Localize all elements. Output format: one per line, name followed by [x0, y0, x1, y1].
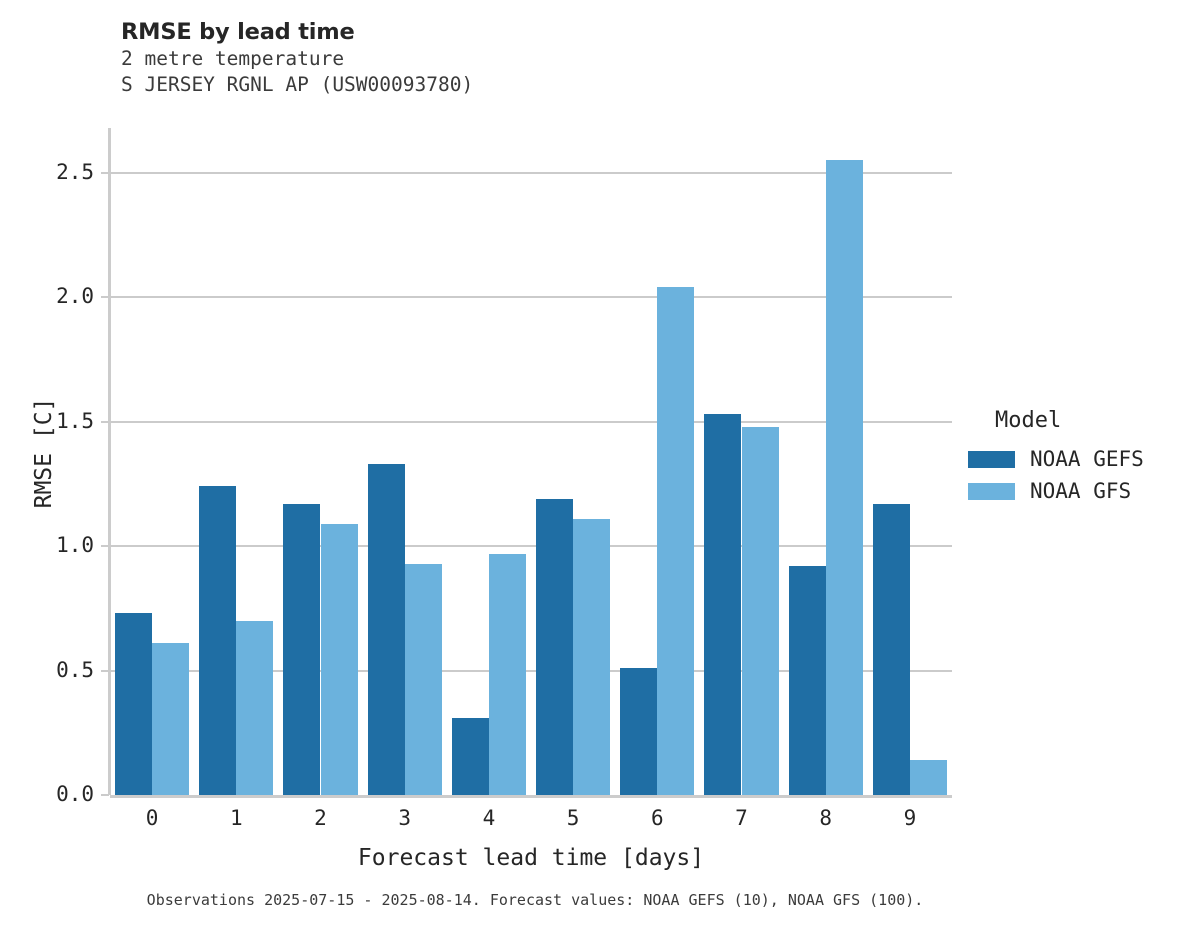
- y-tick-label: 1.0: [8, 535, 94, 556]
- y-axis-label: RMSE [C]: [31, 373, 57, 533]
- x-tick-label-7: 7: [712, 806, 772, 830]
- bar-noaa-gefs-day-5[interactable]: [536, 499, 573, 795]
- bar-noaa-gefs-day-8[interactable]: [789, 566, 826, 795]
- y-tick-mark: [101, 296, 109, 298]
- bar-noaa-gfs-day-1[interactable]: [236, 621, 273, 795]
- x-tick-label-6: 6: [627, 806, 687, 830]
- bar-noaa-gefs-day-0[interactable]: [115, 613, 152, 795]
- x-tick-label-3: 3: [375, 806, 435, 830]
- bar-noaa-gefs-day-9[interactable]: [873, 504, 910, 795]
- y-tick-mark: [101, 545, 109, 547]
- y-tick-label: 0.0: [8, 784, 94, 805]
- x-tick-label-2: 2: [291, 806, 351, 830]
- bar-noaa-gfs-day-4[interactable]: [489, 554, 526, 795]
- bar-noaa-gfs-day-5[interactable]: [573, 519, 610, 795]
- y-tick-mark: [101, 172, 109, 174]
- y-tick-label: 2.5: [8, 162, 94, 183]
- bar-noaa-gfs-day-6[interactable]: [657, 287, 694, 795]
- x-tick-label-8: 8: [796, 806, 856, 830]
- bar-noaa-gfs-day-8[interactable]: [826, 160, 863, 795]
- legend-swatch-noaa-gefs: [968, 451, 1015, 468]
- plot-area: [110, 128, 952, 795]
- legend-swatch-noaa-gfs: [968, 483, 1015, 500]
- x-tick-label-0: 0: [122, 806, 182, 830]
- legend-title: Model: [995, 408, 1183, 434]
- x-tick-label-4: 4: [459, 806, 519, 830]
- bar-noaa-gefs-day-6[interactable]: [620, 668, 657, 795]
- bar-noaa-gfs-day-3[interactable]: [405, 564, 442, 795]
- bar-noaa-gefs-day-3[interactable]: [368, 464, 405, 795]
- y-tick-mark: [101, 794, 109, 796]
- legend-label-noaa-gefs: NOAA GEFS: [1030, 449, 1144, 470]
- legend-label-noaa-gfs: NOAA GFS: [1030, 481, 1131, 502]
- x-axis-spine: [110, 795, 952, 798]
- y-tick-label: 2.0: [8, 286, 94, 307]
- x-tick-label-9: 9: [880, 806, 940, 830]
- y-tick-label: 0.5: [8, 660, 94, 681]
- y-tick-mark: [101, 670, 109, 672]
- y-tick-mark: [101, 421, 109, 423]
- bar-noaa-gfs-day-7[interactable]: [742, 427, 779, 795]
- x-tick-label-5: 5: [543, 806, 603, 830]
- bar-noaa-gefs-day-1[interactable]: [199, 486, 236, 795]
- bar-noaa-gefs-day-7[interactable]: [704, 414, 741, 795]
- x-tick-label-1: 1: [206, 806, 266, 830]
- bar-noaa-gefs-day-4[interactable]: [452, 718, 489, 795]
- legend-item-noaa-gfs[interactable]: NOAA GFS: [968, 475, 1183, 507]
- bar-noaa-gfs-day-2[interactable]: [321, 524, 358, 795]
- bar-noaa-gfs-day-9[interactable]: [910, 760, 947, 795]
- legend: Model NOAA GEFS NOAA GFS: [968, 408, 1183, 507]
- bar-noaa-gfs-day-0[interactable]: [152, 643, 189, 795]
- legend-item-noaa-gefs[interactable]: NOAA GEFS: [968, 443, 1183, 475]
- x-axis-label: Forecast lead time [days]: [110, 845, 952, 871]
- bar-noaa-gefs-day-2[interactable]: [283, 504, 320, 795]
- figure-caption: Observations 2025-07-15 - 2025-08-14. Fo…: [0, 891, 1070, 909]
